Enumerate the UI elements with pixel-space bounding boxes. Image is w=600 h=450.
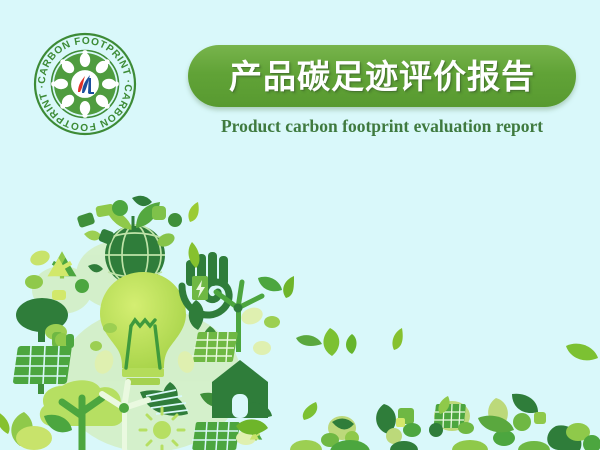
toe-cluster-f — [547, 423, 600, 450]
page-title: 产品碳足迹评价报告 — [229, 60, 535, 93]
report-subtitle: Product carbon footprint evaluation repo… — [188, 116, 576, 137]
leaf-icon-9 — [303, 402, 318, 420]
eco-footprint-artwork — [0, 150, 600, 450]
leaf-icon-5 — [323, 328, 339, 356]
leaf-icon-1 — [188, 202, 198, 222]
report-title-banner: 产品碳足迹评价报告 — [188, 45, 576, 107]
report-cover-page: CARBON FOOTPRINT · CARBON FOOTPRINT · — [0, 0, 600, 450]
hand-icon — [52, 332, 74, 348]
leaf-icon-13 — [0, 412, 10, 434]
leaf-icon-4 — [296, 335, 322, 346]
toe-cluster-c — [376, 404, 421, 444]
leaf-icon-7 — [392, 328, 402, 350]
toe-cluster-d — [429, 401, 474, 437]
leaf-icon-6 — [346, 334, 357, 354]
battery-icon — [192, 276, 208, 300]
leaf-icon-3 — [283, 276, 294, 298]
leaf-icon-11 — [478, 416, 514, 433]
footprint-main-cluster — [11, 196, 282, 450]
solar-panel-icon-2 — [192, 332, 238, 362]
carbon-footprint-seal-logo: CARBON FOOTPRINT · CARBON FOOTPRINT · — [33, 32, 137, 136]
leaf-icon-10 — [566, 344, 598, 361]
